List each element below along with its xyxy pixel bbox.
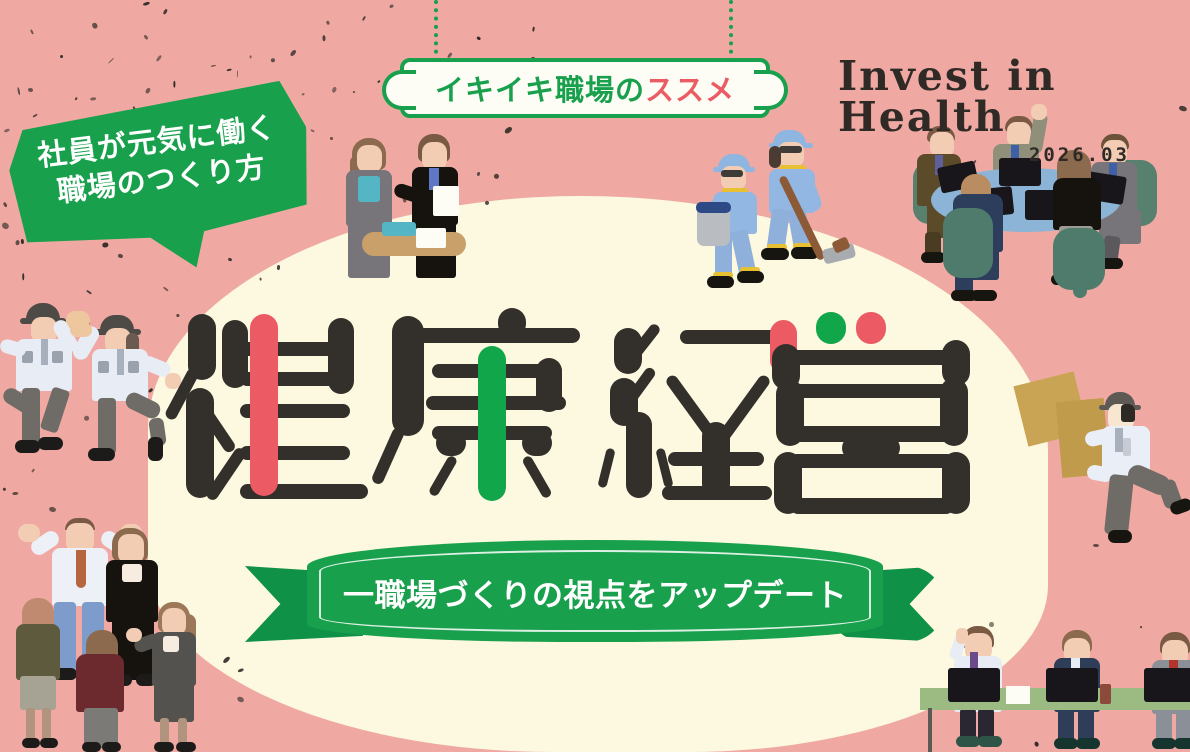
speckle-dot [237,696,246,704]
speckle-dot [17,87,20,95]
brand-block: Invest in Health 2026.03 [838,56,1138,166]
speckle-dot [331,87,337,94]
speckle-dot [3,202,8,208]
speckle-dot [91,22,98,29]
illustration-desk-row [920,600,1190,752]
hanger-line-right [729,0,733,62]
speckle-dot [162,8,168,15]
speckle-dot [532,27,535,32]
speckle-dot [1,221,10,230]
top-label-banner: イキイキ職場のススメ [400,58,770,118]
speckle-dot [270,58,275,62]
speckle-dot [75,98,78,101]
speckle-dot [389,4,394,8]
speckle-dot [259,278,261,281]
speckle-dot [91,97,97,100]
speckle-dot [323,35,326,41]
speckle-dot [30,29,34,35]
speckle-dot [237,70,239,77]
speech-bubble: 社員が元気に働く 職場のつくり方 [2,78,321,288]
top-label-text-green: イキイキ職場の [435,67,645,109]
brand-date: 2026.03 [838,144,1138,166]
speckle-dot [173,81,175,88]
speckle-dot [108,57,115,63]
speckle-dot [504,126,513,134]
speckle-dot [60,55,64,59]
speckle-dot [378,79,381,82]
speckle-dot [238,668,244,673]
speckle-dot [310,129,314,132]
illustration-cleaning-staff [685,112,860,287]
speckle-dot [277,265,280,270]
speckle-dot [211,64,216,66]
speckle-dot [1178,105,1187,112]
ribbon-banner: 一職場づくりの視点をアップデート [245,540,945,658]
speckle-dot [28,87,34,92]
poster-root: イキイキ職場のススメ Invest in Health 2026.03 社員が元… [0,0,1190,752]
speckle-dot [362,16,366,21]
main-title [170,306,1040,536]
speckle-dot [289,49,296,57]
brand-title: Invest in Health [838,56,1138,138]
speckle-dot [325,21,329,25]
ribbon-text: 一職場づくりの視点をアップデート [245,570,945,615]
illustration-office-pair-table [330,130,500,280]
speckle-dot [227,69,232,72]
speckle-dot [476,36,481,41]
speckle-dot [144,35,149,40]
speckle-dot [145,88,151,95]
hanger-line-left [434,0,438,62]
speckle-dot [142,1,150,6]
speckle-dot [353,91,355,93]
top-label-text-red: ススメ [645,67,735,109]
speckle-dot [249,56,251,59]
illustration-delivery-worker [1015,372,1190,552]
speckle-dot [156,55,162,62]
